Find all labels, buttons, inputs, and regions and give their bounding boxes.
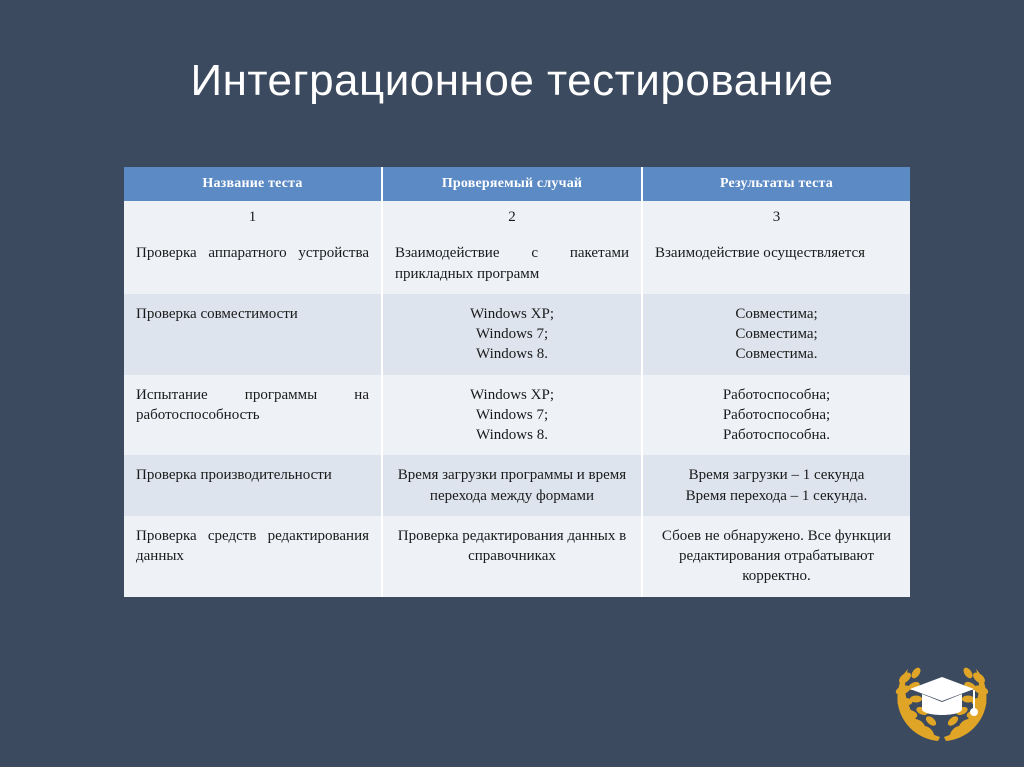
row3-case-line-1: Windows XP; [395,385,629,405]
row3-test-name: Испытание программы на работоспособность [124,375,382,456]
slide-canvas: Интеграционное тестирование Название тес… [0,0,1024,767]
table-row: Проверка производительности Время загруз… [124,455,910,516]
column-number-1: 1 [124,201,382,233]
row1-test-result: Взаимодействие осуществляется [642,233,910,294]
row3-checked-case: Windows XP; Windows 7; Windows 8. [382,375,642,456]
column-header-test-results: Результаты теста [642,167,910,201]
row3-result-line-3: Работоспособна. [655,425,898,445]
test-results-table-container: Название теста Проверяемый случай Резуль… [124,167,910,597]
row1-test-name: Проверка аппаратного устройства [124,233,382,294]
row4-test-result: Время загрузки – 1 секунда Время переход… [642,455,910,516]
column-number-3: 3 [642,201,910,233]
row2-checked-case: Windows XP; Windows 7; Windows 8. [382,294,642,375]
table-row: Проверка аппаратного устройства Взаимоде… [124,233,910,294]
row2-result-line-1: Совместима; [655,304,898,324]
row3-case-line-3: Windows 8. [395,425,629,445]
row4-result-line-2: Время перехода – 1 секунда. [655,486,898,506]
row2-result-line-3: Совместима. [655,344,898,364]
row5-checked-case: Проверка редактирования данных в справоч… [382,516,642,597]
row2-case-line-2: Windows 7; [395,324,629,344]
row5-test-result: Сбоев не обнаружено. Все функции редакти… [642,516,910,597]
row2-test-name: Проверка совместимости [124,294,382,375]
graduation-cap-laurel-icon [886,645,998,749]
row2-result-line-2: Совместима; [655,324,898,344]
column-header-test-name: Название теста [124,167,382,201]
row4-test-name: Проверка производительности [124,455,382,516]
column-number-2: 2 [382,201,642,233]
row2-case-line-3: Windows 8. [395,344,629,364]
table-column-number-row: 1 2 3 [124,201,910,233]
page-title: Интеграционное тестирование [0,56,1024,106]
row2-test-result: Совместима; Совместима; Совместима. [642,294,910,375]
table-header-row: Название теста Проверяемый случай Резуль… [124,167,910,201]
column-header-checked-case: Проверяемый случай [382,167,642,201]
table-row: Проверка совместимости Windows XP; Windo… [124,294,910,375]
row1-checked-case: Взаимодействие с пакетами прикладных про… [382,233,642,294]
row4-result-line-1: Время загрузки – 1 секунда [655,465,898,485]
row3-test-result: Работоспособна; Работоспособна; Работосп… [642,375,910,456]
table-row: Испытание программы на работоспособность… [124,375,910,456]
row3-result-line-2: Работоспособна; [655,405,898,425]
row4-checked-case: Время загрузки программы и время переход… [382,455,642,516]
test-results-table: Название теста Проверяемый случай Резуль… [124,167,910,597]
table-row: Проверка средств редактирования данных П… [124,516,910,597]
row3-case-line-2: Windows 7; [395,405,629,425]
row3-result-line-1: Работоспособна; [655,385,898,405]
row2-case-line-1: Windows XP; [395,304,629,324]
row5-test-name: Проверка средств редактирования данных [124,516,382,597]
